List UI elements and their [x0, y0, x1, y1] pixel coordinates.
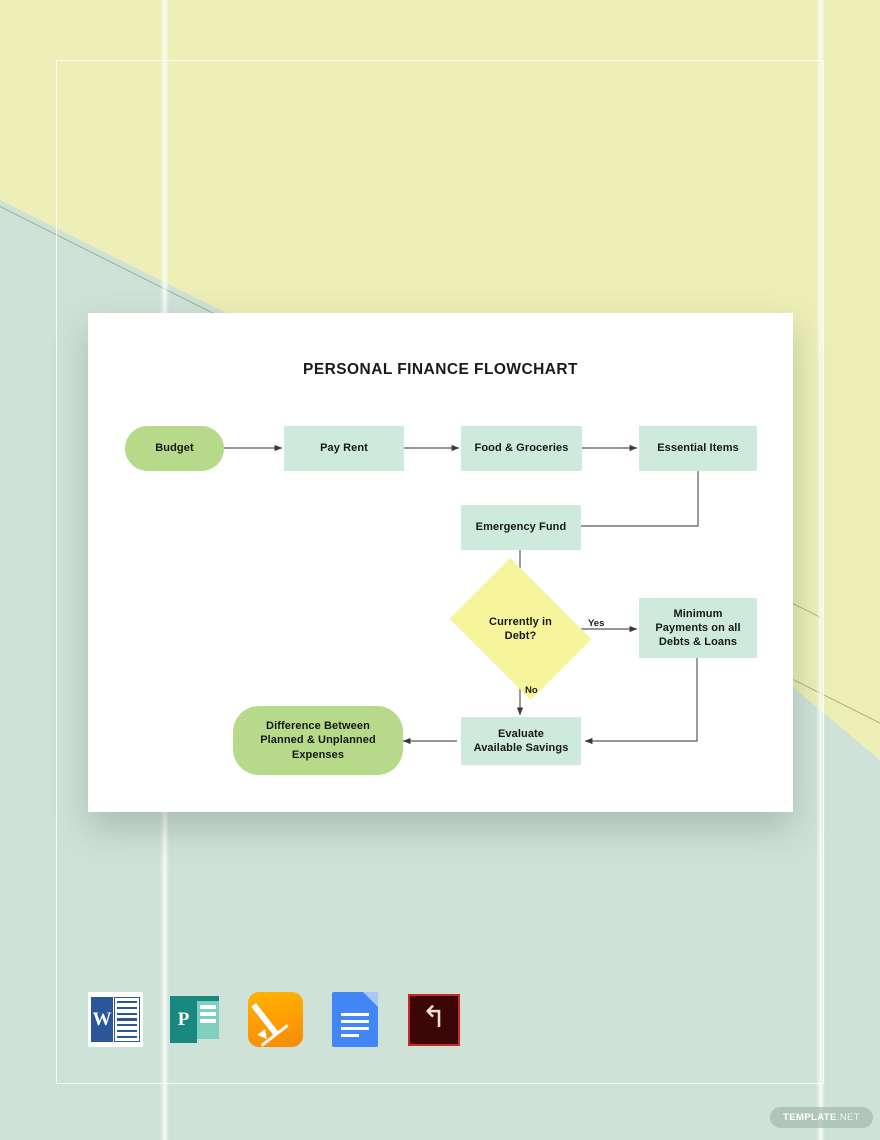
edge-label-yes: Yes: [588, 618, 604, 629]
gdoc-text-lines: [341, 1013, 369, 1037]
node-currently-in-debt-label-line1: Currently in: [489, 615, 552, 629]
adobe-pdf-icon[interactable]: ↰: [408, 992, 463, 1047]
gdoc-page-fold: [363, 992, 378, 1007]
word-letter: W: [91, 997, 113, 1042]
node-difference-expenses-label-line1: Difference Between: [266, 719, 370, 733]
template-watermark: TEMPLATE.NET: [770, 1107, 873, 1128]
watermark-suffix: .NET: [837, 1112, 860, 1123]
node-pay-rent[interactable]: Pay Rent: [284, 426, 404, 471]
publisher-fold: [197, 1001, 219, 1039]
edge-minimum-evaluate: [585, 658, 697, 741]
node-evaluate-savings-label-line2: Available Savings: [474, 741, 569, 755]
apple-pages-icon[interactable]: [248, 992, 303, 1047]
node-emergency-fund[interactable]: Emergency Fund: [461, 505, 581, 550]
node-food-groceries-label: Food & Groceries: [475, 441, 569, 455]
node-food-groceries[interactable]: Food & Groceries: [461, 426, 582, 471]
node-minimum-payments-label-line1: Minimum: [674, 607, 723, 621]
node-difference-expenses-label-line2: Planned & Unplanned: [260, 733, 376, 747]
node-budget-label: Budget: [155, 441, 193, 455]
watermark-main: TEMPLATE: [783, 1112, 837, 1123]
microsoft-publisher-icon[interactable]: P: [168, 992, 223, 1047]
edge-label-no: No: [525, 685, 538, 696]
vertical-seam-right: [816, 0, 825, 1140]
node-currently-in-debt-label-line2: Debt?: [489, 629, 552, 643]
microsoft-word-icon[interactable]: W: [88, 992, 143, 1047]
node-budget[interactable]: Budget: [125, 426, 224, 471]
document-card: PERSONAL FINANCE FLOWCHART: [88, 313, 793, 812]
node-difference-expenses-label-line3: Expenses: [292, 748, 344, 762]
flowchart-canvas: Budget Pay Rent Food & Groceries Essenti…: [88, 313, 793, 812]
node-minimum-payments[interactable]: Minimum Payments on all Debts & Loans: [639, 598, 757, 658]
flowchart-connectors: [88, 313, 793, 812]
publisher-letter: P: [170, 996, 197, 1043]
node-essential-items-label: Essential Items: [657, 441, 739, 455]
node-essential-items[interactable]: Essential Items: [639, 426, 757, 471]
node-pay-rent-label: Pay Rent: [320, 441, 368, 455]
node-difference-expenses[interactable]: Difference Between Planned & Unplanned E…: [233, 706, 403, 775]
google-docs-icon[interactable]: [328, 992, 383, 1047]
file-format-icon-row: W P: [88, 992, 463, 1047]
node-evaluate-savings[interactable]: Evaluate Available Savings: [461, 717, 581, 765]
node-evaluate-savings-label-line1: Evaluate: [498, 727, 544, 741]
node-emergency-fund-label: Emergency Fund: [476, 520, 567, 534]
word-lines: [114, 997, 140, 1042]
node-currently-in-debt[interactable]: Currently in Debt?: [463, 586, 578, 672]
pdf-glyph: ↰: [421, 1003, 446, 1033]
node-minimum-payments-label-line2: Payments on all: [655, 621, 740, 635]
page-root: PERSONAL FINANCE FLOWCHART: [0, 0, 880, 1140]
node-minimum-payments-label-line3: Debts & Loans: [659, 635, 737, 649]
